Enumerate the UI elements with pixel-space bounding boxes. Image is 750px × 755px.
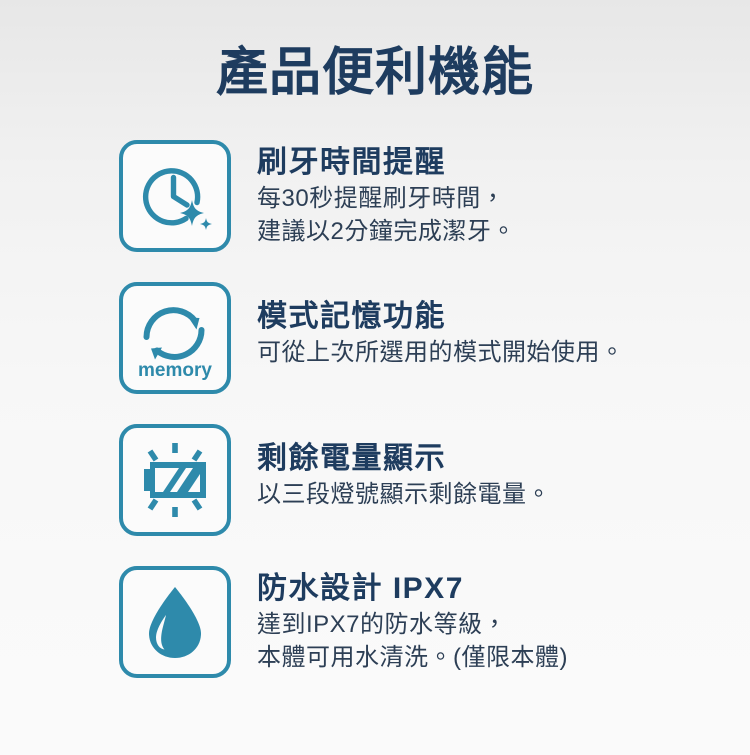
feature-text-waterproof: 防水設計 IPX7 達到IPX7的防水等級， 本體可用水清洗。(僅限本體) xyxy=(231,566,719,674)
feature-description: 達到IPX7的防水等級， 本體可用水清洗。(僅限本體) xyxy=(257,608,719,674)
feature-row-battery-level: 剩餘電量顯示 以三段燈號顯示剩餘電量。 xyxy=(119,424,719,536)
feature-text-brush-timer: 刷牙時間提醒 每30秒提醒刷牙時間， 建議以2分鐘完成潔牙。 xyxy=(231,140,719,248)
feature-title: 模式記憶功能 xyxy=(257,298,719,336)
feature-text-battery-level: 剩餘電量顯示 以三段燈號顯示剩餘電量。 xyxy=(231,424,719,511)
battery-level-icon xyxy=(133,438,217,522)
icon-box-brush-timer xyxy=(119,140,231,252)
feature-title: 剩餘電量顯示 xyxy=(257,440,719,478)
feature-description: 以三段燈號顯示剩餘電量。 xyxy=(257,478,719,511)
feature-title: 刷牙時間提醒 xyxy=(257,144,719,182)
page-title: 產品便利機能 xyxy=(0,42,750,104)
feature-description: 每30秒提醒刷牙時間， 建議以2分鐘完成潔牙。 xyxy=(257,182,719,248)
memory-icon-label: memory xyxy=(138,360,212,380)
memory-cycle-icon: memory xyxy=(133,296,217,380)
feature-text-mode-memory: 模式記憶功能 可從上次所選用的模式開始使用。 xyxy=(231,282,719,369)
icon-box-battery-level xyxy=(119,424,231,536)
clock-sparkle-icon xyxy=(135,156,215,236)
feature-list: 刷牙時間提醒 每30秒提醒刷牙時間， 建議以2分鐘完成潔牙。 memory xyxy=(119,140,719,678)
feature-description: 可從上次所選用的模式開始使用。 xyxy=(257,336,719,369)
water-drop-icon xyxy=(135,582,215,662)
feature-row-brush-timer: 刷牙時間提醒 每30秒提醒刷牙時間， 建議以2分鐘完成潔牙。 xyxy=(119,140,719,252)
feature-row-waterproof: 防水設計 IPX7 達到IPX7的防水等級， 本體可用水清洗。(僅限本體) xyxy=(119,566,719,678)
feature-title: 防水設計 IPX7 xyxy=(257,570,719,608)
icon-box-mode-memory: memory xyxy=(119,282,231,394)
product-features-panel: 產品便利機能 刷牙時間提 xyxy=(0,0,750,755)
icon-box-waterproof xyxy=(119,566,231,678)
feature-row-mode-memory: memory 模式記憶功能 可從上次所選用的模式開始使用。 xyxy=(119,282,719,394)
